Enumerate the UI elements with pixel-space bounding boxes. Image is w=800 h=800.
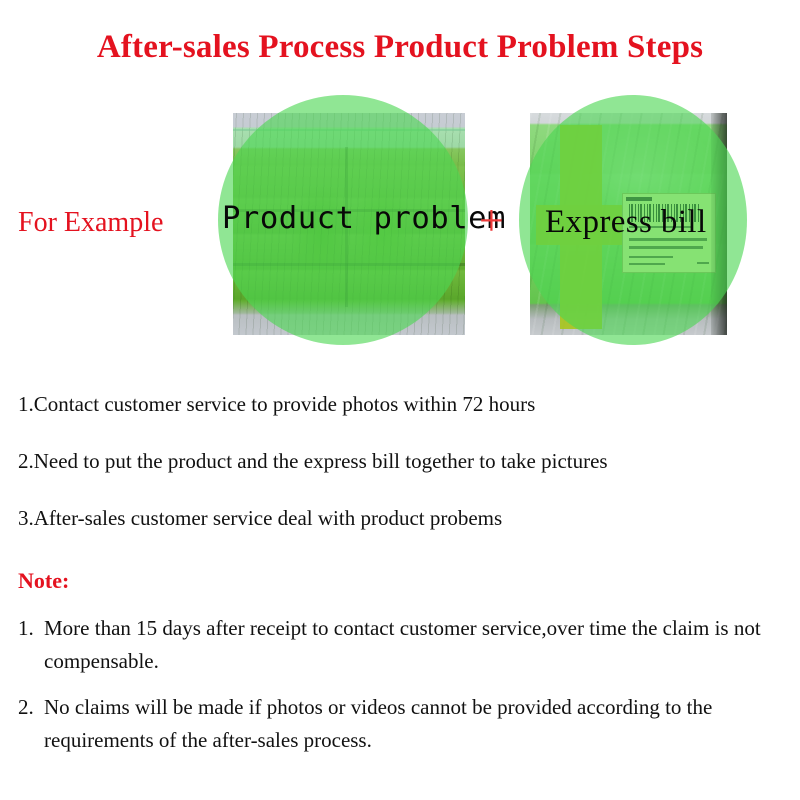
- note-marker: 2.: [18, 691, 44, 724]
- label-text-line: [629, 226, 693, 228]
- note-text: More than 15 days after receipt to conta…: [44, 612, 790, 677]
- example-section: For Example Product problem +: [0, 95, 800, 355]
- note-item: 1. More than 15 days after receipt to co…: [18, 612, 790, 677]
- label-header-bar: [626, 197, 652, 201]
- figure-express-bill: Express bill: [0, 95, 800, 355]
- express-bill-photo: [530, 113, 727, 335]
- label-text-line: [697, 262, 709, 264]
- steps-list: 1.Contact customer service to provide ph…: [18, 392, 788, 563]
- step-item: 3.After-sales customer service deal with…: [18, 506, 788, 531]
- note-text: No claims will be made if photos or vide…: [44, 691, 790, 756]
- note-marker: 1.: [18, 612, 44, 645]
- label-text-line: [629, 238, 707, 241]
- label-text-line: [629, 246, 703, 249]
- barcode-icon: [629, 204, 701, 222]
- shipping-label: [622, 193, 716, 273]
- note-list: 1. More than 15 days after receipt to co…: [18, 612, 790, 770]
- page-title: After-sales Process Product Problem Step…: [0, 29, 800, 66]
- label-text-line: [629, 256, 673, 258]
- photo-dark-edge: [711, 113, 727, 335]
- step-item: 2.Need to put the product and the expres…: [18, 449, 788, 474]
- note-heading: Note:: [18, 568, 69, 594]
- note-item: 2. No claims will be made if photos or v…: [18, 691, 790, 756]
- step-item: 1.Contact customer service to provide ph…: [18, 392, 788, 417]
- label-text-line: [629, 263, 665, 265]
